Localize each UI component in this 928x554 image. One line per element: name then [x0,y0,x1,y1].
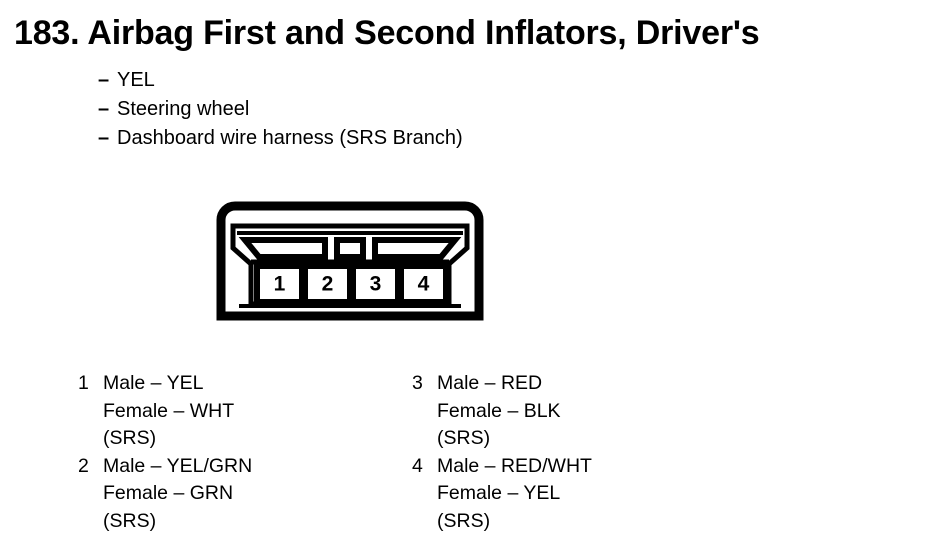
legend-male-wire: Male – YEL [103,370,234,398]
pin-number-1: 1 [274,273,286,296]
legend-pin-detail: Male – YEL Female – WHT (SRS) [103,370,234,453]
legend-male-wire: Male – YEL/GRN [103,453,252,481]
legend-entry-pin-3: 3 Male – RED Female – BLK (SRS) [412,370,592,453]
dash-icon: – [98,95,117,124]
legend-entry-pin-2: 2 Male – YEL/GRN Female – GRN (SRS) [78,453,252,536]
latch-slot-right [375,240,455,257]
pin-legend-left-column: 1 Male – YEL Female – WHT (SRS) 2 Male –… [78,370,252,535]
list-item: – Steering wheel [98,95,463,124]
pin-number-3: 3 [370,273,382,296]
legend-system-tag: (SRS) [103,508,252,536]
pin-number-4: 4 [418,273,430,296]
latch-slot-center [337,240,363,257]
list-item: – YEL [98,66,463,95]
list-item-label: Steering wheel [117,95,249,124]
legend-system-tag: (SRS) [437,508,592,536]
legend-entry-pin-1: 1 Male – YEL Female – WHT (SRS) [78,370,252,453]
legend-male-wire: Male – RED [437,370,561,398]
legend-pin-number: 1 [78,370,103,398]
connector-pinout-page: { "page": { "title": "183. Airbag First … [0,0,928,554]
legend-female-wire: Female – GRN [103,480,252,508]
list-item-label: YEL [117,66,155,95]
legend-entry-pin-4: 4 Male – RED/WHT Female – YEL (SRS) [412,453,592,536]
legend-female-wire: Female – WHT [103,398,234,426]
legend-pin-number: 4 [412,453,437,481]
pin-legend: 1 Male – YEL Female – WHT (SRS) 2 Male –… [0,370,928,554]
list-item: – Dashboard wire harness (SRS Branch) [98,124,463,153]
legend-male-wire: Male – RED/WHT [437,453,592,481]
legend-female-wire: Female – BLK [437,398,561,426]
legend-pin-detail: Male – RED Female – BLK (SRS) [437,370,561,453]
list-item-label: Dashboard wire harness (SRS Branch) [117,124,463,153]
legend-pin-detail: Male – YEL/GRN Female – GRN (SRS) [103,453,252,536]
legend-system-tag: (SRS) [437,425,561,453]
description-bullet-list: – YEL – Steering wheel – Dashboard wire … [98,66,463,153]
legend-system-tag: (SRS) [103,425,234,453]
pin-number-2: 2 [322,273,334,296]
connector-svg: 1 2 3 4 [215,200,485,322]
dash-icon: – [98,66,117,95]
legend-female-wire: Female – YEL [437,480,592,508]
pin-legend-right-column: 3 Male – RED Female – BLK (SRS) 4 Male –… [412,370,592,535]
legend-pin-number: 2 [78,453,103,481]
latch-slot-left [245,240,325,257]
legend-pin-number: 3 [412,370,437,398]
connector-diagram: 1 2 3 4 [215,200,485,322]
dash-icon: – [98,124,117,153]
legend-pin-detail: Male – RED/WHT Female – YEL (SRS) [437,453,592,536]
page-title: 183. Airbag First and Second Inflators, … [14,14,759,52]
